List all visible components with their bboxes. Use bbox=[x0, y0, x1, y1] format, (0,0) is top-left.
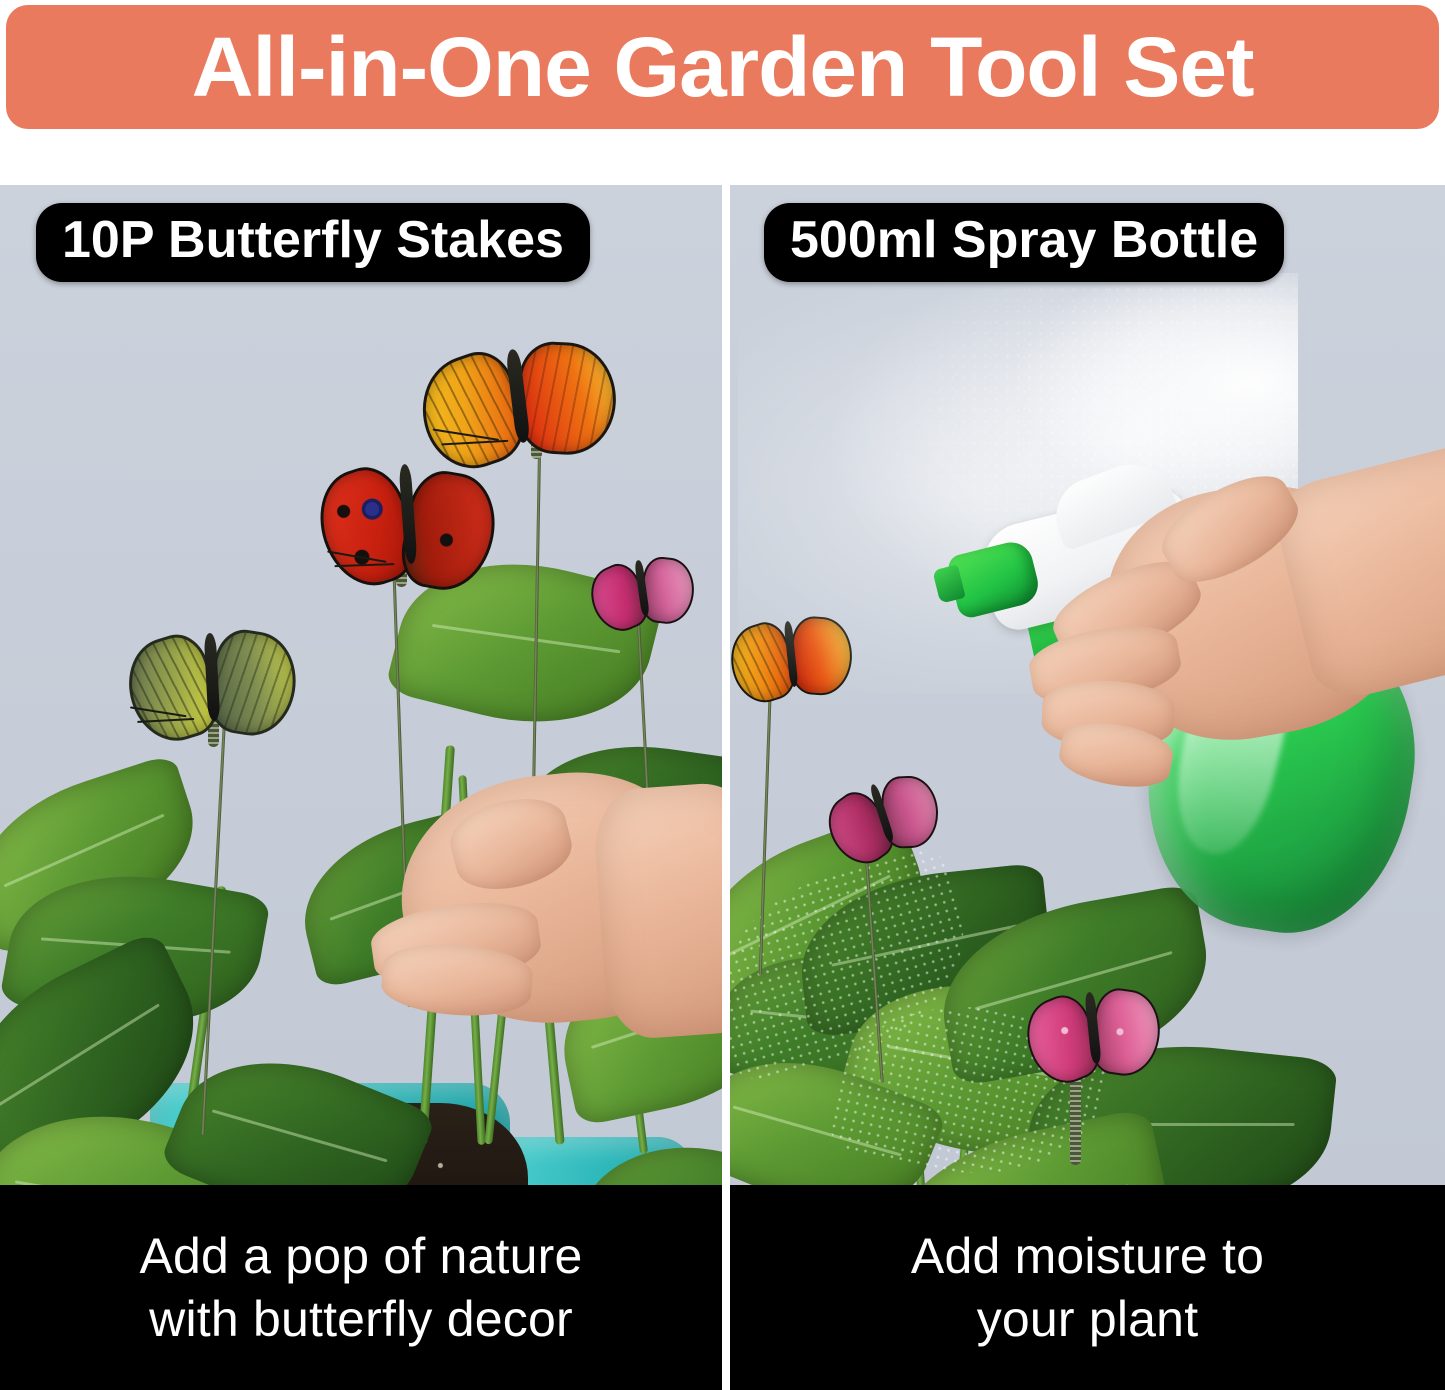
butterfly-wing-right bbox=[204, 626, 303, 742]
panel-badge-butterfly-stakes: 10P Butterfly Stakes bbox=[36, 203, 590, 282]
panel-butterfly-stakes: 10P Butterfly Stakes Add a pop of nature… bbox=[0, 185, 722, 1390]
butterfly-stake-pink bbox=[586, 548, 698, 628]
butterfly-stake-pink-upper bbox=[818, 761, 947, 864]
butterfly-stake-orange bbox=[414, 328, 622, 463]
caption-line-2: your plant bbox=[977, 1288, 1199, 1351]
butterfly-stake-red-peacock bbox=[316, 449, 500, 579]
header-banner: All-in-One Garden Tool Set bbox=[6, 5, 1439, 129]
photo-spray-bottle bbox=[730, 185, 1445, 1185]
caption-butterfly-stakes: Add a pop of nature with butterfly decor bbox=[0, 1185, 722, 1390]
butterfly-stake-orange bbox=[730, 609, 856, 699]
page-title: All-in-One Garden Tool Set bbox=[192, 25, 1254, 109]
butterfly-wing-right bbox=[639, 555, 698, 626]
wrist bbox=[591, 779, 722, 1041]
butterfly-wing-right bbox=[788, 615, 854, 697]
panel-badge-spray-bottle: 500ml Spray Bottle bbox=[764, 203, 1284, 282]
butterfly-stake-yellow-green bbox=[125, 621, 298, 734]
caption-spray-bottle: Add moisture to your plant bbox=[730, 1185, 1445, 1390]
caption-line-1: Add moisture to bbox=[911, 1225, 1264, 1288]
butterfly-stake-pink-lower bbox=[1022, 978, 1164, 1078]
panel-row: 10P Butterfly Stakes Add a pop of nature… bbox=[0, 185, 1445, 1390]
butterfly-wing-right bbox=[515, 340, 619, 457]
panel-spray-bottle: 500ml Spray Bottle Add moisture to your … bbox=[730, 185, 1445, 1390]
caption-line-2: with butterfly decor bbox=[149, 1288, 573, 1351]
photo-butterfly-stakes bbox=[0, 185, 722, 1185]
caption-line-1: Add a pop of nature bbox=[139, 1225, 582, 1288]
product-infographic: All-in-One Garden Tool Set bbox=[0, 0, 1445, 1390]
